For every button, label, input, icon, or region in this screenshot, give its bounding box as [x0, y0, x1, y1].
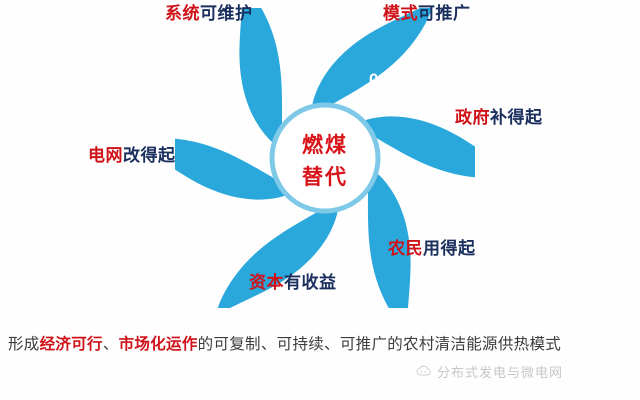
label-capital-returns-highlight: 资本: [249, 273, 284, 293]
label-model-promotable-highlight: 模式: [383, 4, 418, 24]
label-government-affordable-highlight: 政府: [455, 108, 490, 128]
petal-number-02: 02: [387, 157, 407, 176]
caption-text: 形成经济可行、市场化运作的可复制、可持续、可推广的农村清洁能源供热模式: [8, 330, 632, 359]
watermark: 分布式发电与微电网: [415, 362, 563, 381]
watermark-text: 分布式发电与微电网: [437, 362, 563, 381]
label-capital-returns-rest: 有收益: [284, 273, 337, 293]
petal-number-04: 04: [249, 201, 269, 220]
label-government-affordable: 政府补得起: [455, 110, 543, 127]
center-text-line2: 替代: [302, 165, 348, 189]
label-system-maintainable: 系统可维护: [165, 6, 253, 23]
caption-segment-2: 、: [103, 335, 119, 353]
petal-number-05: 05: [232, 116, 252, 135]
label-farmer-affordable-rest: 用得起: [423, 239, 476, 259]
label-grid-affordable: 电网改得起: [88, 148, 176, 165]
petal-number-03: 03: [332, 220, 352, 239]
center-disc-inner-glow: [278, 111, 373, 206]
label-model-promotable: 模式可推广: [383, 6, 471, 23]
label-model-promotable-rest: 可推广: [418, 4, 471, 24]
caption-segment-3: 的可复制、可持续、可推广的农村清洁能源供热模式: [198, 335, 561, 353]
caption-segment-1: 形成: [8, 335, 40, 353]
label-grid-affordable-highlight: 电网: [88, 146, 123, 166]
label-farmer-affordable-highlight: 农民: [388, 239, 423, 259]
pinwheel-diagram: 燃煤 替代 01 02 03 04 05 06 系统可维护 模式可推广 政府补得…: [0, 0, 640, 318]
cloud-logo-icon: [415, 363, 432, 380]
label-government-affordable-rest: 补得起: [490, 108, 543, 128]
label-capital-returns: 资本有收益: [249, 275, 337, 292]
pinwheel-graphic: 燃煤 替代 01 02 03 04 05 06: [175, 8, 475, 308]
label-grid-affordable-rest: 改得起: [123, 146, 176, 166]
petal-number-01: 01: [369, 70, 389, 89]
label-farmer-affordable: 农民用得起: [388, 241, 476, 258]
label-system-maintainable-rest: 可维护: [200, 4, 253, 24]
petal-number-06: 06: [302, 46, 322, 65]
label-system-maintainable-highlight: 系统: [165, 4, 200, 24]
caption-emphasis-1: 经济可行: [40, 335, 103, 353]
center-text-line1: 燃煤: [302, 133, 348, 157]
caption-emphasis-2: 市场化运作: [119, 335, 198, 353]
